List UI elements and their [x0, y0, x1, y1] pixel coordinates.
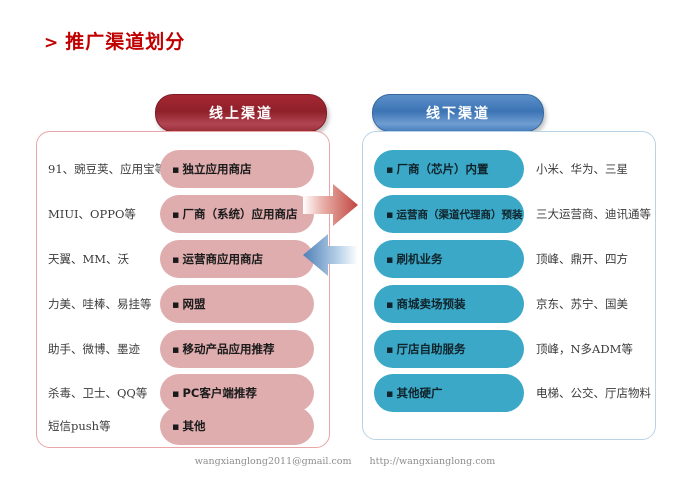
bullet-icon: ▪	[386, 254, 393, 265]
offline-channel-pill-1[interactable]: ▪ 厂商（芯片）内置	[374, 150, 524, 188]
offline-channel-pill-3[interactable]: ▪ 刷机业务	[374, 240, 524, 278]
arrow-left-blue-icon	[303, 232, 359, 282]
offline-channel-label-5: 厅店自助服务	[396, 341, 465, 357]
online-examples-7: 短信push等	[48, 418, 160, 434]
online-row-1[interactable]: 91、豌豆荚、应用宝等 ▪ 独立应用商店	[48, 150, 314, 188]
offline-row-5[interactable]: ▪ 厅店自助服务 顶峰，N多ADM等	[374, 330, 654, 368]
offline-channel-pill-5[interactable]: ▪ 厅店自助服务	[374, 330, 524, 368]
bullet-icon: ▪	[386, 164, 393, 175]
offline-channel-label-3: 刷机业务	[396, 251, 442, 267]
online-channel-label-4: 网盟	[182, 296, 205, 312]
offline-row-6[interactable]: ▪ 其他硬广 电梯、公交、厅店物料	[374, 374, 654, 412]
column-header-offline[interactable]: 线下渠道	[372, 94, 544, 132]
online-examples-1: 91、豌豆荚、应用宝等	[48, 161, 160, 177]
online-examples-5: 助手、微博、墨迹	[48, 341, 160, 357]
arrow-right-red-icon	[303, 182, 359, 232]
online-row-4[interactable]: 力美、哇棒、易挂等 ▪ 网盟	[48, 285, 314, 323]
offline-channel-pill-4[interactable]: ▪ 商城卖场预装	[374, 285, 524, 323]
online-row-3[interactable]: 天翼、MM、沃 ▪ 运营商应用商店	[48, 240, 314, 278]
online-channel-label-5: 移动产品应用推荐	[182, 341, 274, 357]
online-channel-label-2: 厂商（系统）应用商店	[182, 206, 297, 222]
bullet-icon: ▪	[386, 299, 393, 310]
bullet-icon: ▪	[172, 388, 179, 399]
online-channel-pill-3[interactable]: ▪ 运营商应用商店	[160, 240, 314, 278]
online-channel-label-1: 独立应用商店	[182, 161, 251, 177]
offline-examples-4: 京东、苏宁、国美	[536, 296, 654, 312]
bullet-icon: ▪	[386, 388, 393, 399]
online-row-5[interactable]: 助手、微博、墨迹 ▪ 移动产品应用推荐	[48, 330, 314, 368]
title-text: 推广渠道划分	[65, 31, 185, 53]
online-channel-label-7: 其他	[182, 418, 205, 434]
offline-channel-label-2: 运营商（渠道代理商）预装	[396, 207, 522, 222]
offline-row-4[interactable]: ▪ 商城卖场预装 京东、苏宁、国美	[374, 285, 654, 323]
offline-examples-1: 小米、华为、三星	[536, 161, 654, 177]
offline-row-2[interactable]: ▪ 运营商（渠道代理商）预装 三大运营商、迪讯通等	[374, 195, 654, 233]
online-row-7[interactable]: 短信push等 ▪ 其他	[48, 407, 314, 445]
offline-channel-pill-6[interactable]: ▪ 其他硬广	[374, 374, 524, 412]
bullet-icon: ▪	[172, 254, 179, 265]
footer-contact: wangxianglong2011@gmail.comhttp://wangxi…	[0, 456, 690, 467]
bullet-icon: ▪	[172, 164, 179, 175]
online-channel-pill-1[interactable]: ▪ 独立应用商店	[160, 150, 314, 188]
online-examples-3: 天翼、MM、沃	[48, 251, 160, 267]
bullet-icon: ▪	[172, 299, 179, 310]
offline-row-3[interactable]: ▪ 刷机业务 顶峰、鼎开、四方	[374, 240, 654, 278]
offline-channel-label-6: 其他硬广	[396, 385, 442, 401]
title-chevron: >	[44, 33, 59, 53]
bullet-icon: ▪	[172, 209, 179, 220]
offline-examples-5: 顶峰，N多ADM等	[536, 341, 654, 357]
bullet-icon: ▪	[386, 209, 393, 220]
footer-url[interactable]: http://wangxianglong.com	[370, 456, 496, 467]
offline-examples-6: 电梯、公交、厅店物料	[536, 385, 654, 401]
online-examples-2: MIUI、OPPO等	[48, 206, 160, 222]
bullet-icon: ▪	[172, 344, 179, 355]
online-channel-pill-7[interactable]: ▪ 其他	[160, 407, 314, 445]
offline-channel-label-1: 厂商（芯片）内置	[396, 161, 488, 177]
online-examples-6: 杀毒、卫士、QQ等	[48, 385, 160, 401]
offline-channel-pill-2[interactable]: ▪ 运营商（渠道代理商）预装	[374, 195, 524, 233]
online-channel-label-3: 运营商应用商店	[182, 251, 263, 267]
online-channel-pill-2[interactable]: ▪ 厂商（系统）应用商店	[160, 195, 314, 233]
online-channel-pill-5[interactable]: ▪ 移动产品应用推荐	[160, 330, 314, 368]
online-row-2[interactable]: MIUI、OPPO等 ▪ 厂商（系统）应用商店	[48, 195, 314, 233]
online-examples-4: 力美、哇棒、易挂等	[48, 296, 160, 312]
offline-examples-3: 顶峰、鼎开、四方	[536, 251, 654, 267]
offline-channel-label-4: 商城卖场预装	[396, 296, 465, 312]
offline-row-1[interactable]: ▪ 厂商（芯片）内置 小米、华为、三星	[374, 150, 654, 188]
bullet-icon: ▪	[386, 344, 393, 355]
page-title: >推广渠道划分	[44, 27, 185, 54]
footer-email: wangxianglong2011@gmail.com	[195, 456, 352, 467]
offline-examples-2: 三大运营商、迪讯通等	[536, 206, 654, 222]
online-channel-pill-4[interactable]: ▪ 网盟	[160, 285, 314, 323]
column-header-online[interactable]: 线上渠道	[155, 94, 327, 132]
bullet-icon: ▪	[172, 421, 179, 432]
online-channel-label-6: PC客户端推荐	[182, 385, 256, 401]
